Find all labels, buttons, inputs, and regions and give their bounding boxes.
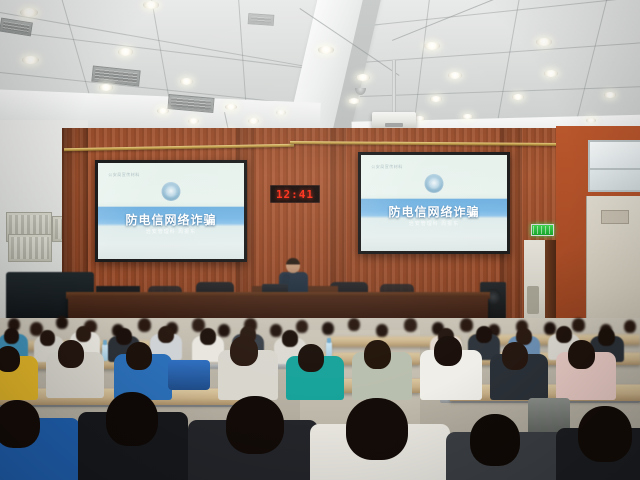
slide-header-text: 公安局宣传材料 xyxy=(371,164,403,170)
ceiling-vent xyxy=(0,18,33,37)
ceiling-downlight xyxy=(22,56,39,64)
doorway-far-view xyxy=(527,286,539,314)
upper-window xyxy=(588,140,640,192)
emergency-exit-sign xyxy=(531,224,554,236)
slide-left: 公安局宣传材料 防电信网络诈骗 治安管理科 周振东 xyxy=(98,163,244,259)
ceiling-vent xyxy=(248,13,275,26)
ceiling-downlight xyxy=(248,118,259,124)
ceiling-downlight xyxy=(276,110,286,115)
ceiling-downlight xyxy=(356,74,370,81)
public-security-emblem xyxy=(425,174,444,193)
ceiling-downlight xyxy=(448,72,462,79)
ceiling-downlight xyxy=(318,46,334,54)
ceiling-downlight xyxy=(512,94,524,100)
public-security-emblem xyxy=(162,182,181,201)
slide-subtitle: 治安管理科 周振东 xyxy=(98,228,244,235)
ceiling-downlight xyxy=(348,98,360,104)
projector-mount-pole xyxy=(392,60,396,115)
ceiling-downlight xyxy=(188,118,199,124)
wall-electrical-panel xyxy=(8,234,52,262)
ceiling-dome-camera xyxy=(355,88,366,95)
exit-sign-glyph xyxy=(533,226,552,234)
slide-right: 公安局宣传材料 防电信网络诈骗 治安管理科 周振东 xyxy=(361,155,507,251)
ceiling-downlight xyxy=(586,118,596,123)
ceiling-downlight xyxy=(225,104,237,110)
ceiling-downlight xyxy=(424,42,440,50)
slide-title: 防电信网络诈骗 xyxy=(98,211,244,228)
ceiling-downlight xyxy=(20,8,38,17)
ceiling-downlight xyxy=(143,1,159,9)
left-projection-screen[interactable]: 公安局宣传材料 防电信网络诈骗 治安管理科 周振东 xyxy=(95,160,247,262)
ceiling-projector xyxy=(372,112,416,129)
slide-title: 防电信网络诈骗 xyxy=(361,203,507,220)
ceiling-downlight xyxy=(536,38,552,46)
slide-footer-band xyxy=(98,244,244,259)
ceiling-downlight xyxy=(430,96,442,102)
ceiling-downlight xyxy=(462,114,473,119)
ceiling-downlight xyxy=(604,92,616,98)
ceiling-downlight xyxy=(118,48,133,56)
led-wall-clock: 12:41 xyxy=(270,185,320,203)
ceiling-downlight xyxy=(544,70,558,77)
ceiling-downlight xyxy=(157,108,169,114)
ceiling-downlight xyxy=(99,84,113,91)
slide-header-text: 公安局宣传材料 xyxy=(108,172,140,178)
right-projection-screen[interactable]: 公安局宣传材料 防电信网络诈骗 治安管理科 周振东 xyxy=(358,152,510,254)
presenter-head xyxy=(286,258,300,273)
slide-footer-band xyxy=(361,236,507,251)
slide-subtitle: 治安管理科 周振东 xyxy=(361,220,507,227)
lecture-hall-photo: 12:41 公安局宣传材料 防电信网络诈骗 治安管理科 周振东 公安局宣传材料 … xyxy=(0,0,640,480)
ceiling-downlight xyxy=(180,78,193,85)
